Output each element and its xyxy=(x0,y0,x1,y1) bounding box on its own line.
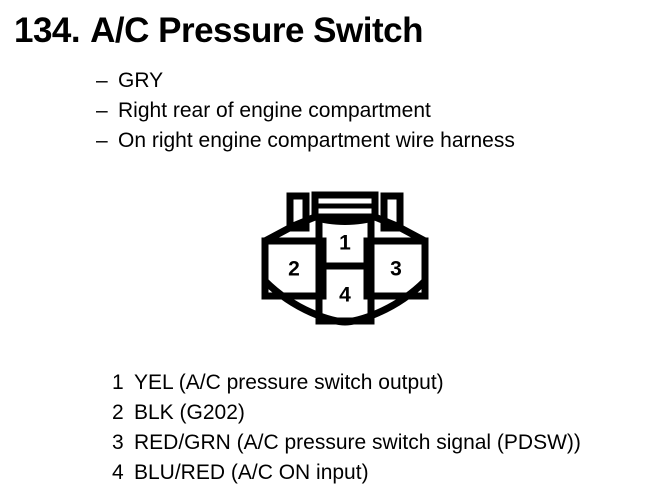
info-list-item-label: GRY xyxy=(118,66,163,96)
info-list-item: – Right rear of engine compartment xyxy=(96,96,636,126)
info-list-item-label: Right rear of engine compartment xyxy=(118,96,431,126)
dash-bullet-icon: – xyxy=(96,96,118,126)
pin-legend-row: 1 YEL (A/C pressure switch output) xyxy=(112,368,657,398)
info-list-item: – GRY xyxy=(96,66,636,96)
info-list-item: – On right engine compartment wire harne… xyxy=(96,126,636,156)
pin-legend-row: 3 RED/GRN (A/C pressure switch signal (P… xyxy=(112,428,657,458)
pin-legend-description: BLU/RED (A/C ON input) xyxy=(134,458,369,488)
pin-label-3: 3 xyxy=(390,258,402,281)
pin-legend-description: RED/GRN (A/C pressure switch signal (PDS… xyxy=(134,428,581,458)
connector-diagram: 1 2 3 4 xyxy=(245,186,445,331)
connector-svg: 1 2 3 4 xyxy=(245,186,445,331)
page-title-number: 134. xyxy=(14,11,80,50)
info-list-item-label: On right engine compartment wire harness xyxy=(118,126,515,156)
pin-label-1: 1 xyxy=(339,232,351,255)
pin-legend-number: 1 xyxy=(112,368,134,398)
pin-label-2: 2 xyxy=(288,258,300,281)
dash-bullet-icon: – xyxy=(96,126,118,156)
pin-legend-description: YEL (A/C pressure switch output) xyxy=(134,368,444,398)
pin-legend-number: 4 xyxy=(112,458,134,488)
pin-legend-description: BLK (G202) xyxy=(134,398,245,428)
pin-legend-number: 3 xyxy=(112,428,134,458)
pin-label-4: 4 xyxy=(339,284,351,307)
pin-legend: 1 YEL (A/C pressure switch output) 2 BLK… xyxy=(112,368,657,488)
pin-legend-number: 2 xyxy=(112,398,134,428)
dash-bullet-icon: – xyxy=(96,66,118,96)
page-title: 134.A/C Pressure Switch xyxy=(14,11,423,51)
info-list: – GRY – Right rear of engine compartment… xyxy=(96,66,636,156)
pin-legend-row: 2 BLK (G202) xyxy=(112,398,657,428)
page-title-text: A/C Pressure Switch xyxy=(90,11,423,50)
pin-legend-row: 4 BLU/RED (A/C ON input) xyxy=(112,458,657,488)
